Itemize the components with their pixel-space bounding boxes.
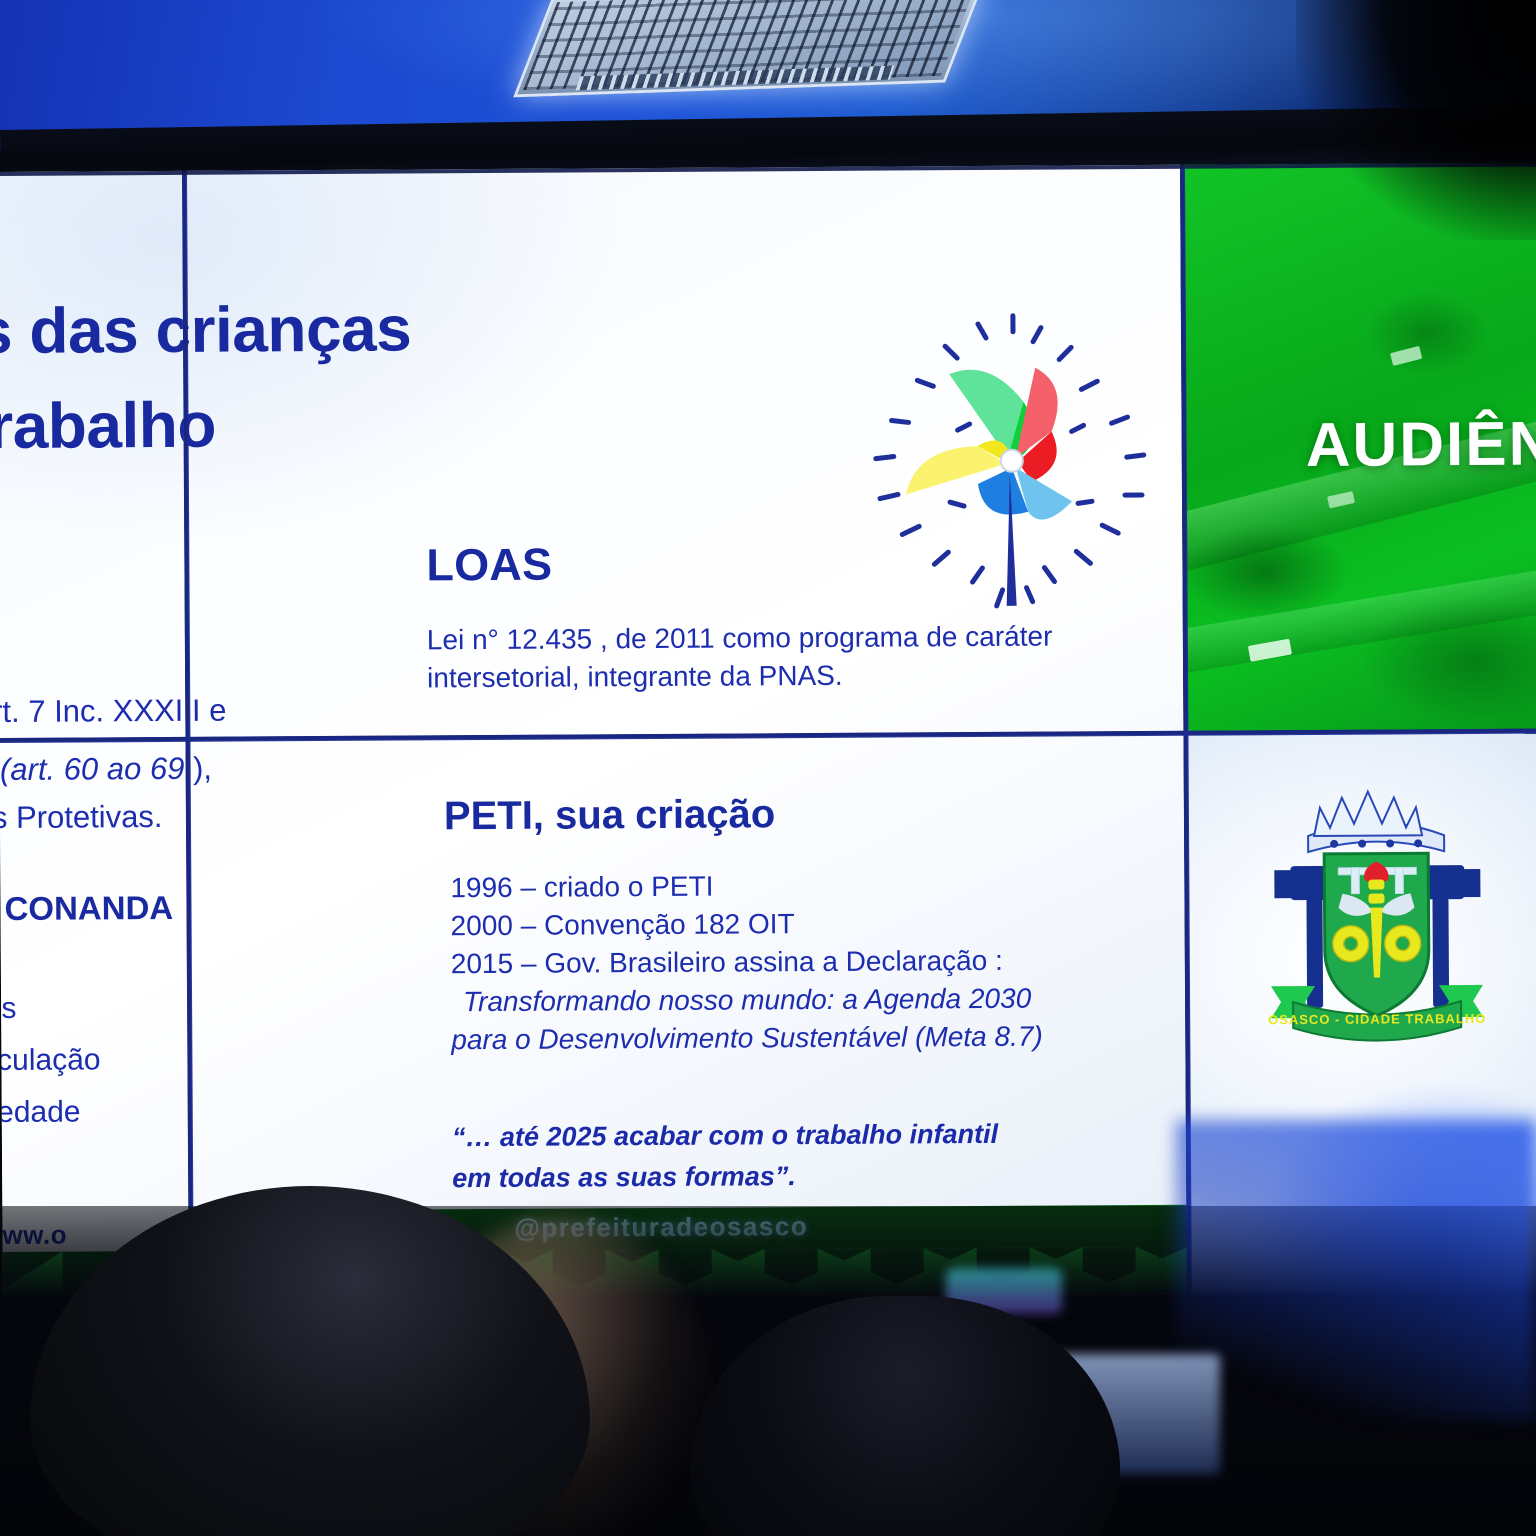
crest-crown [1308, 791, 1444, 852]
screenshot-root: direitos das crianças es no trabalho – A… [0, 0, 1536, 1536]
ceiling-light-icon [513, 0, 985, 97]
slide-title-line2: es no trabalho [0, 388, 185, 463]
left-line-art7: – Art. 7 Inc. XXXIII e [0, 693, 185, 731]
right-blue-glow [1176, 1120, 1536, 1420]
peti-quote: “… até 2025 acabar com o trabalho infant… [452, 1113, 1152, 1199]
wall-cell-top-center: direitos das crianças es no trabalho – A… [186, 165, 1183, 737]
audience-head-silhouette-2 [690, 1296, 1120, 1536]
left-heading-conanda: 06 - CONANDA [0, 889, 173, 928]
wall-cell-top-right: AUDIÊN [1184, 163, 1536, 731]
pinwheel-icon [845, 305, 1177, 637]
slide-title-line1: direitos das crianças [186, 292, 411, 368]
left-line-1990: 990 (art. 60 ao 69 ), [0, 751, 189, 789]
peti-line-meta: para o Desenvolvimento Sustentável (Meta… [451, 1017, 1151, 1059]
left-line-sociedade: sociedade [0, 1096, 81, 1131]
left-line-dos: a dos [0, 992, 17, 1026]
slide-content-clip-tl: direitos das crianças es no trabalho – A… [0, 171, 185, 738]
crest-motto: OSASCO - CIDADE TRABALHO [1268, 1011, 1486, 1027]
left-line-protetivas: ções Protetivas. [0, 799, 163, 836]
loas-heading: LOAS [426, 539, 552, 592]
top-right-vignette [1296, 0, 1536, 240]
peti-quote-line1: “… até 2025 acabar com o trabalho infant… [452, 1119, 998, 1152]
slide-title: direitos das crianças es no trabalho [186, 278, 906, 474]
peti-body: 1996 – criado o PETI 2000 – Convenção 18… [450, 865, 1151, 1060]
peti-line-2015: 2015 – Gov. Brasileiro assina a Declaraç… [451, 945, 1003, 979]
peti-line-1996: 1996 – criado o PETI [450, 871, 713, 904]
peti-line-2000: 2000 – Convenção 182 OIT [451, 908, 795, 941]
slide-title-line2: es no trabalho [186, 388, 216, 463]
peti-line-agenda: Transformando nosso mundo: a Agenda 2030 [451, 979, 1151, 1021]
slide-title-line1: direitos das crianças [0, 292, 185, 368]
slide-title: direitos das crianças es no trabalho [0, 278, 185, 474]
peti-quote-line2: em todas as suas formas”. [452, 1161, 796, 1193]
osasco-coat-of-arms-icon: OSASCO - CIDADE TRABALHO [1236, 757, 1518, 1059]
left-line-art7: – Art. 7 Inc. XXXIII e [186, 693, 227, 731]
slide-content-clip-tr: direitos das crianças es no trabalho – A… [186, 165, 1183, 737]
audiencia-overlay-text: AUDIÊN [1305, 408, 1536, 481]
wall-cell-top-left: direitos das crianças es no trabalho – A… [0, 171, 185, 738]
left-line-articulacao: - Articulação [0, 1043, 101, 1078]
peti-heading: PETI, sua criação [444, 792, 776, 839]
left-line-1990: 990 (art. 60 ao 69 ), [189, 751, 212, 789]
